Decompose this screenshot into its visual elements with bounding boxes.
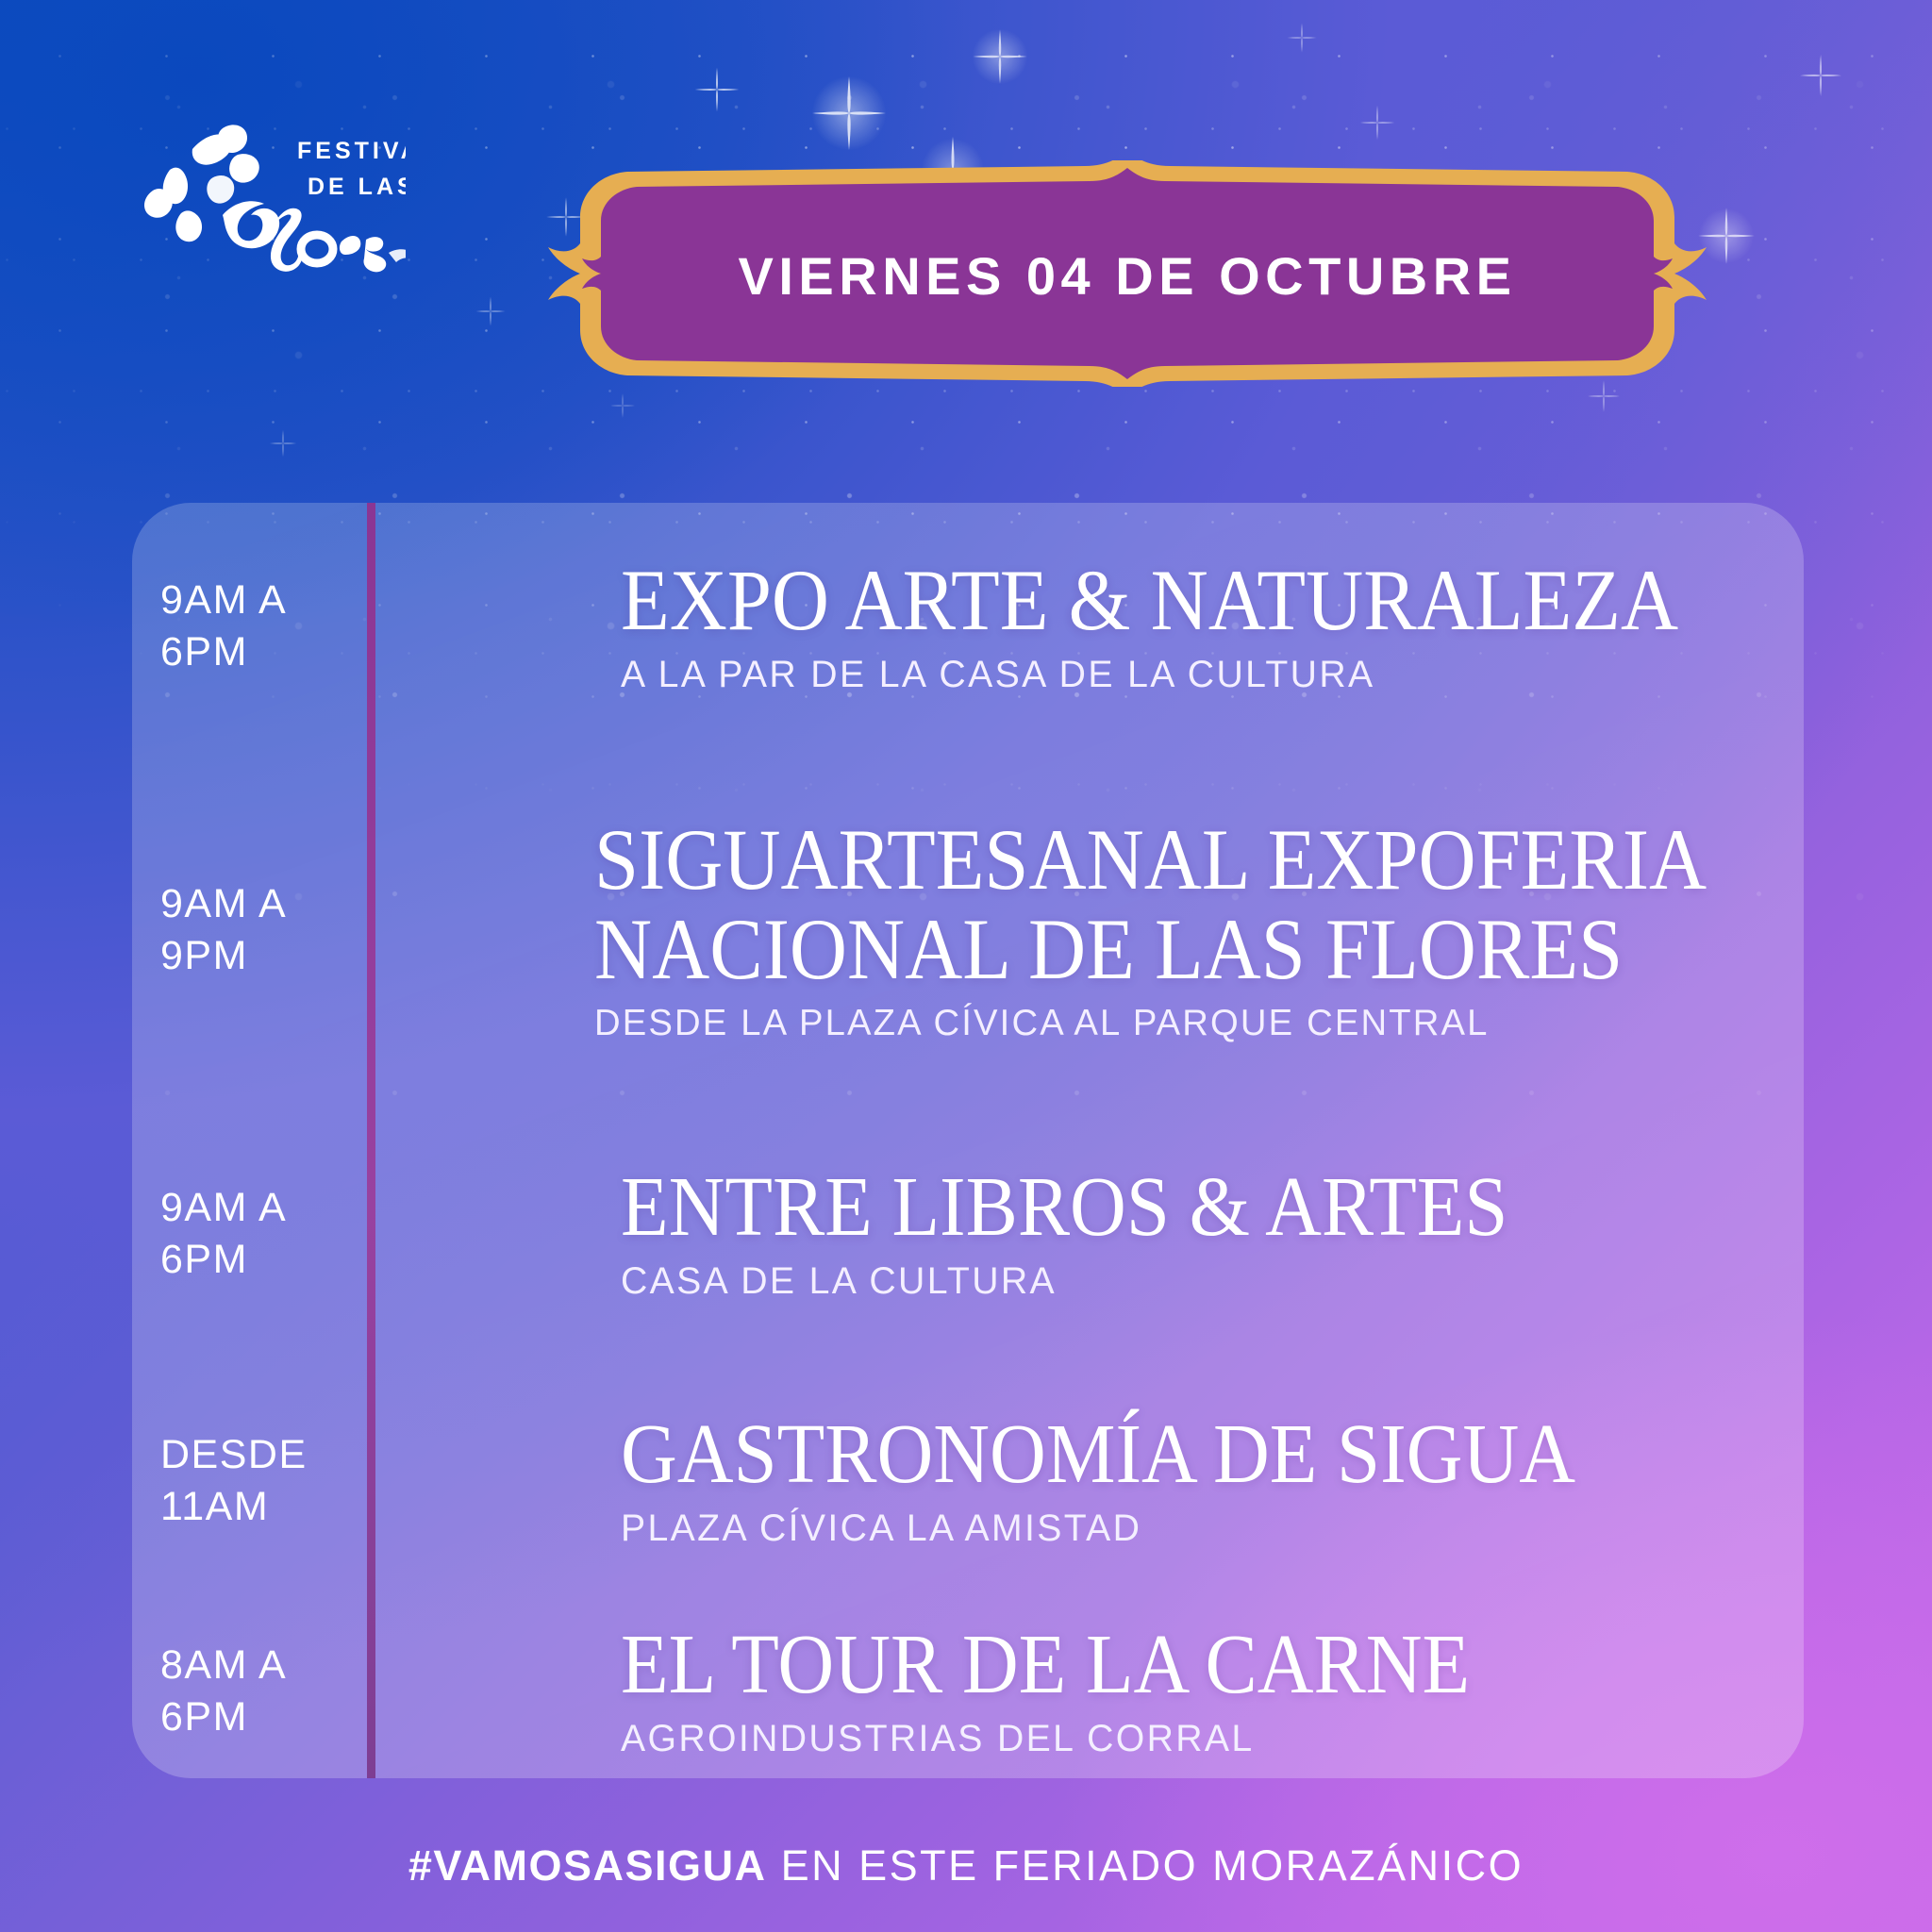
row-event: GASTRONOMÍA DE SIGUA PLAZA CÍVICA LA AMI…: [499, 1357, 1804, 1605]
row-event: EL TOUR DE LA CARNE AGROINDUSTRIAS DEL C…: [499, 1605, 1804, 1778]
footer-tagline: #VAMOSASIGUA EN ESTE FERIADO MORAZÁNICO: [0, 1841, 1932, 1890]
row-time-line: 9AM A: [160, 878, 473, 930]
row-time: 9AM A 9PM: [132, 750, 473, 1110]
row-time-line: 6PM: [160, 1234, 499, 1286]
schedule-row: 9AM A 6PM EXPO ARTE & NATURALEZA A LA PA…: [132, 503, 1804, 750]
row-event-venue: A LA PAR DE LA CASA DE LA CULTURA: [621, 653, 1780, 696]
schedule-row: 9AM A 9PM SIGUARTESANAL EXPOFERIA NACION…: [132, 750, 1804, 1110]
logo-line2: DE LAS: [308, 174, 406, 200]
poster-canvas: FESTIVAL DE LAS VIERNES 04 DE OCTUBRE 9A…: [0, 0, 1932, 1932]
row-time-line: 6PM: [160, 1691, 499, 1743]
row-event: ENTRE LIBROS & ARTES CASA DE LA CULTURA: [499, 1110, 1804, 1357]
row-event-title: EL TOUR DE LA CARNE: [621, 1623, 1709, 1707]
logo-line1: FESTIVAL: [297, 138, 406, 164]
row-time-line: DESDE: [160, 1429, 499, 1481]
row-time-line: 11AM: [160, 1481, 499, 1533]
row-event-title: GASTRONOMÍA DE SIGUA: [621, 1412, 1709, 1497]
row-time-line: 9PM: [160, 930, 473, 982]
row-event: SIGUARTESANAL EXPOFERIA NACIONAL DE LAS …: [473, 750, 1804, 1110]
row-time: DESDE 11AM: [132, 1357, 499, 1605]
row-event-title: SIGUARTESANAL EXPOFERIA: [594, 815, 1707, 905]
row-time: 8AM A 6PM: [132, 1605, 499, 1778]
schedule-rows: 9AM A 6PM EXPO ARTE & NATURALEZA A LA PA…: [132, 503, 1804, 1778]
schedule-row: 8AM A 6PM EL TOUR DE LA CARNE AGROINDUST…: [132, 1605, 1804, 1778]
schedule-row: DESDE 11AM GASTRONOMÍA DE SIGUA PLAZA CÍ…: [132, 1357, 1804, 1605]
footer-text: EN ESTE FERIADO MORAZÁNICO: [767, 1841, 1524, 1890]
date-banner: VIERNES 04 DE OCTUBRE: [542, 160, 1712, 387]
row-event-venue: PLAZA CÍVICA LA AMISTAD: [621, 1507, 1780, 1550]
row-time: 9AM A 6PM: [132, 1110, 499, 1357]
festival-logo: FESTIVAL DE LAS: [132, 111, 406, 286]
row-time-line: 8AM A: [160, 1640, 499, 1691]
row-time: 9AM A 6PM: [132, 503, 499, 750]
footer-hashtag: #VAMOSASIGUA: [408, 1841, 767, 1890]
row-time-line: 9AM A: [160, 1182, 499, 1234]
date-banner-label: VIERNES 04 DE OCTUBRE: [542, 160, 1712, 387]
row-event-venue: CASA DE LA CULTURA: [621, 1259, 1780, 1303]
row-event-title: ENTRE LIBROS & ARTES: [621, 1165, 1709, 1250]
row-event: EXPO ARTE & NATURALEZA A LA PAR DE LA CA…: [499, 503, 1804, 750]
flower-swirl-icon: [144, 125, 259, 241]
schedule-row: 9AM A 6PM ENTRE LIBROS & ARTES CASA DE L…: [132, 1110, 1804, 1357]
row-time-line: 6PM: [160, 626, 499, 678]
row-time-line: 9AM A: [160, 575, 499, 626]
row-event-venue: DESDE LA PLAZA CÍVICA AL PARQUE CENTRAL: [594, 1003, 1779, 1045]
row-event-venue: AGROINDUSTRIAS DEL CORRAL: [621, 1717, 1780, 1760]
row-event-title: EXPO ARTE & NATURALEZA: [621, 557, 1709, 643]
row-event-title: NACIONAL DE LAS FLORES: [594, 905, 1707, 994]
